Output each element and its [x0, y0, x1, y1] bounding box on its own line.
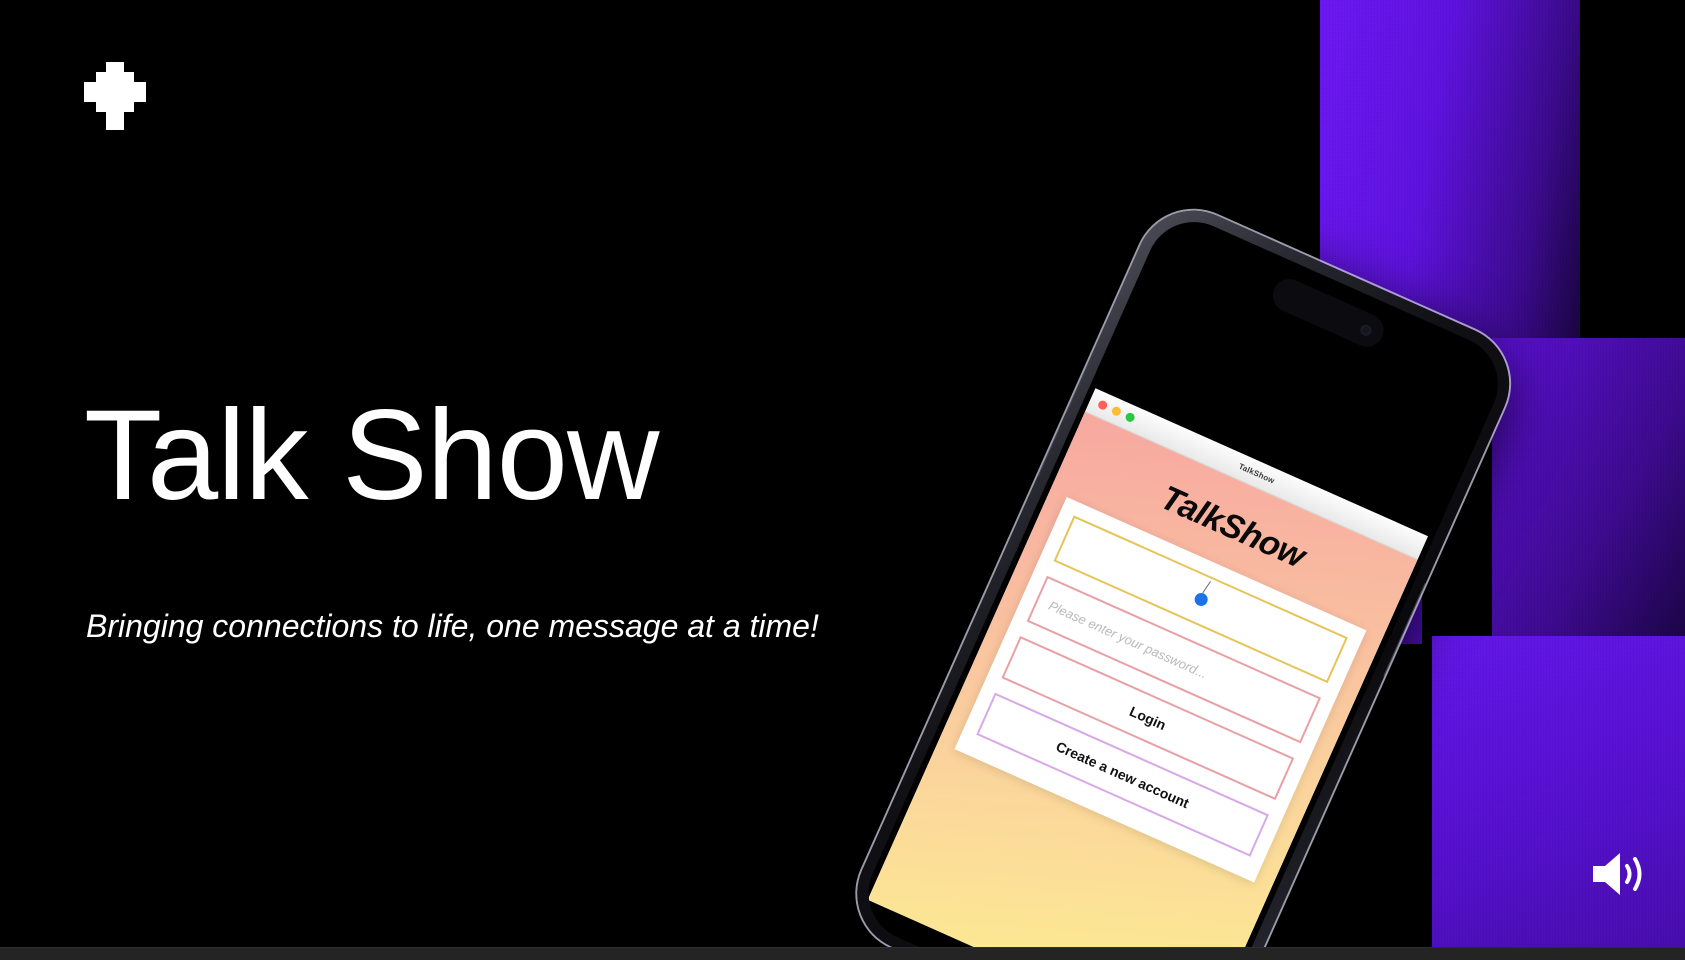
volume-speaker-icon[interactable] — [1589, 846, 1651, 902]
presentation-slide: Talk Show Bringing connections to life, … — [0, 0, 1685, 960]
front-camera-dot — [1359, 323, 1374, 338]
bottom-chrome-strip — [0, 947, 1685, 960]
app-window: TalkShow TalkShow Please enter your pass… — [868, 388, 1428, 960]
phone-screen: TalkShow TalkShow Please enter your pass… — [853, 207, 1513, 960]
phone-frame: TalkShow TalkShow Please enter your pass… — [839, 192, 1528, 960]
dynamic-island — [1268, 274, 1389, 352]
page-title: Talk Show — [84, 392, 658, 520]
text-caret-icon — [1193, 591, 1210, 608]
plus-cross-logo-icon — [84, 62, 146, 130]
page-subtitle: Bringing connections to life, one messag… — [86, 608, 819, 645]
